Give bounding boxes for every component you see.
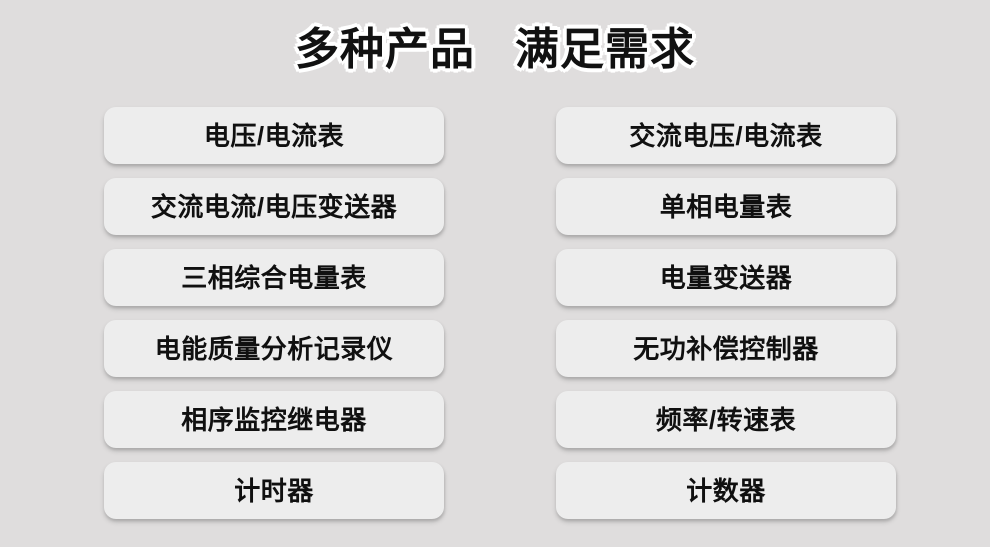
product-grid: 电压/电流表 交流电流/电压变送器 三相综合电量表 电能质量分析记录仪 相序监控…: [104, 107, 896, 519]
product-card[interactable]: 相序监控继电器: [104, 391, 444, 448]
product-card[interactable]: 计时器: [104, 462, 444, 519]
product-card-label: 相序监控继电器: [181, 407, 367, 433]
product-card-label: 电量变送器: [660, 265, 793, 291]
page-title: 多种产品满足需求: [0, 18, 990, 82]
product-column-left: 电压/电流表 交流电流/电压变送器 三相综合电量表 电能质量分析记录仪 相序监控…: [104, 107, 444, 519]
product-card[interactable]: 交流电压/电流表: [556, 107, 896, 164]
product-card[interactable]: 电量变送器: [556, 249, 896, 306]
page-root: 多种产品满足需求 电压/电流表 交流电流/电压变送器 三相综合电量表 电能质量分…: [0, 0, 990, 547]
product-card-label: 频率/转速表: [656, 407, 796, 433]
page-title-segment-1: 多种产品: [295, 25, 475, 74]
product-card-label: 电能质量分析记录仪: [155, 336, 394, 362]
product-card-label: 交流电压/电流表: [629, 123, 822, 149]
product-card[interactable]: 电压/电流表: [104, 107, 444, 164]
product-card[interactable]: 交流电流/电压变送器: [104, 178, 444, 235]
product-card[interactable]: 单相电量表: [556, 178, 896, 235]
product-card-label: 单相电量表: [660, 194, 793, 220]
product-card-label: 电压/电流表: [204, 123, 344, 149]
product-column-right: 交流电压/电流表 单相电量表 电量变送器 无功补偿控制器 频率/转速表 计数器: [556, 107, 896, 519]
product-card[interactable]: 无功补偿控制器: [556, 320, 896, 377]
product-card[interactable]: 频率/转速表: [556, 391, 896, 448]
page-title-text: 多种产品满足需求: [295, 28, 695, 72]
product-card-label: 计数器: [686, 478, 766, 504]
product-card[interactable]: 电能质量分析记录仪: [104, 320, 444, 377]
product-card-label: 三相综合电量表: [181, 265, 367, 291]
page-title-segment-2: 满足需求: [515, 25, 695, 74]
product-card[interactable]: 三相综合电量表: [104, 249, 444, 306]
product-card[interactable]: 计数器: [556, 462, 896, 519]
product-card-label: 计时器: [234, 478, 314, 504]
product-card-label: 无功补偿控制器: [633, 336, 819, 362]
product-card-label: 交流电流/电压变送器: [151, 194, 397, 220]
